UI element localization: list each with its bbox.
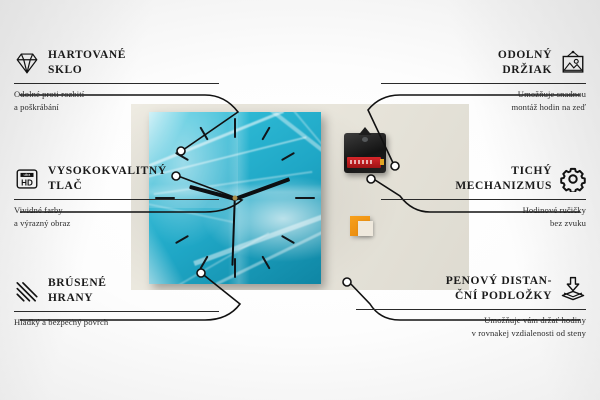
foam-spacer-white xyxy=(358,221,373,236)
divider xyxy=(14,199,219,200)
feature-title-line1: TICHÝ xyxy=(511,164,552,179)
feature-polished-edges: BRÚSENÉ HRANY Hladký a bezpečný povrch xyxy=(14,276,219,329)
feature-title-line1: BRÚSENÉ xyxy=(48,276,107,291)
feature-sub-line2: bez zvuku xyxy=(381,217,586,229)
feature-sub-line2: v rovnakej vzdialenosti od steny xyxy=(356,327,586,339)
framed-picture-icon xyxy=(560,50,586,76)
feature-title-line2: MECHANIZMUS xyxy=(455,179,552,194)
clock-pivot xyxy=(233,196,238,201)
battery-label xyxy=(350,160,374,164)
feature-durable-hanger: ODOLNÝ DRŽIAK Umožňuje snadnou montáž ho… xyxy=(381,48,586,113)
diamond-icon xyxy=(14,50,40,76)
clock-tick xyxy=(234,258,236,278)
feature-title-line2: DRŽIAK xyxy=(502,63,552,78)
divider xyxy=(356,309,586,310)
divider xyxy=(14,311,219,312)
stacked-layers-arrow-icon xyxy=(560,276,586,302)
divider xyxy=(14,83,219,84)
feature-sub-line2: a poškrábání xyxy=(14,101,219,113)
clock-tick xyxy=(295,197,315,199)
feature-sub-line2: montáž hodin na zeď xyxy=(381,101,586,113)
feature-title-line2: SKLO xyxy=(48,63,126,78)
feature-title-line1: VYSOKOKVALITNÝ xyxy=(48,164,167,179)
feature-sub-line1: Odolné proti rozbití xyxy=(14,88,219,100)
svg-text:ultra: ultra xyxy=(24,173,31,177)
feature-title-line1: PENOVÝ DISTAN- xyxy=(446,274,552,289)
feature-title-line1: ODOLNÝ xyxy=(498,48,552,63)
feature-hd-print: ultra HD VYSOKOKVALITNÝ TLAČ Vividné far… xyxy=(14,164,219,229)
diagonal-lines-icon xyxy=(14,278,40,304)
feature-sub-line1: Hodinové ručičky xyxy=(381,204,586,216)
clock-mechanism xyxy=(344,133,386,173)
battery xyxy=(347,157,381,168)
divider xyxy=(381,83,586,84)
feature-sub-line1: Vividné farby xyxy=(14,204,219,216)
ultra-hd-icon: ultra HD xyxy=(14,166,40,192)
gear-icon xyxy=(560,166,586,192)
feature-foam-spacers: PENOVÝ DISTAN- ČNÍ PODLOŽKY Umožňuje vám… xyxy=(356,274,586,339)
feature-sub-line2: a výrazný obraz xyxy=(14,217,219,229)
feature-sub-line1: Umožňuje vám držať hodiny xyxy=(356,314,586,326)
feature-title-line1: HARTOVANÉ xyxy=(48,48,126,63)
clock-tick xyxy=(234,118,236,138)
feature-title-line2: ČNÍ PODLOŽKY xyxy=(455,289,552,304)
feature-silent-mechanism: TICHÝ MECHANIZMUS Hodinové ručičky bez z… xyxy=(381,164,586,229)
svg-text:HD: HD xyxy=(21,179,33,188)
feature-tempered-glass: HARTOVANÉ SKLO Odolné proti rozbití a po… xyxy=(14,48,219,113)
infographic-canvas: HARTOVANÉ SKLO Odolné proti rozbití a po… xyxy=(0,0,600,400)
mechanism-shaft-hole xyxy=(362,137,368,142)
feature-sub-line1: Umožňuje snadnou xyxy=(381,88,586,100)
feature-title-line2: TLAČ xyxy=(48,179,167,194)
feature-title-line2: HRANY xyxy=(48,291,107,306)
feature-sub-line1: Hladký a bezpečný povrch xyxy=(14,316,219,328)
divider xyxy=(381,199,586,200)
